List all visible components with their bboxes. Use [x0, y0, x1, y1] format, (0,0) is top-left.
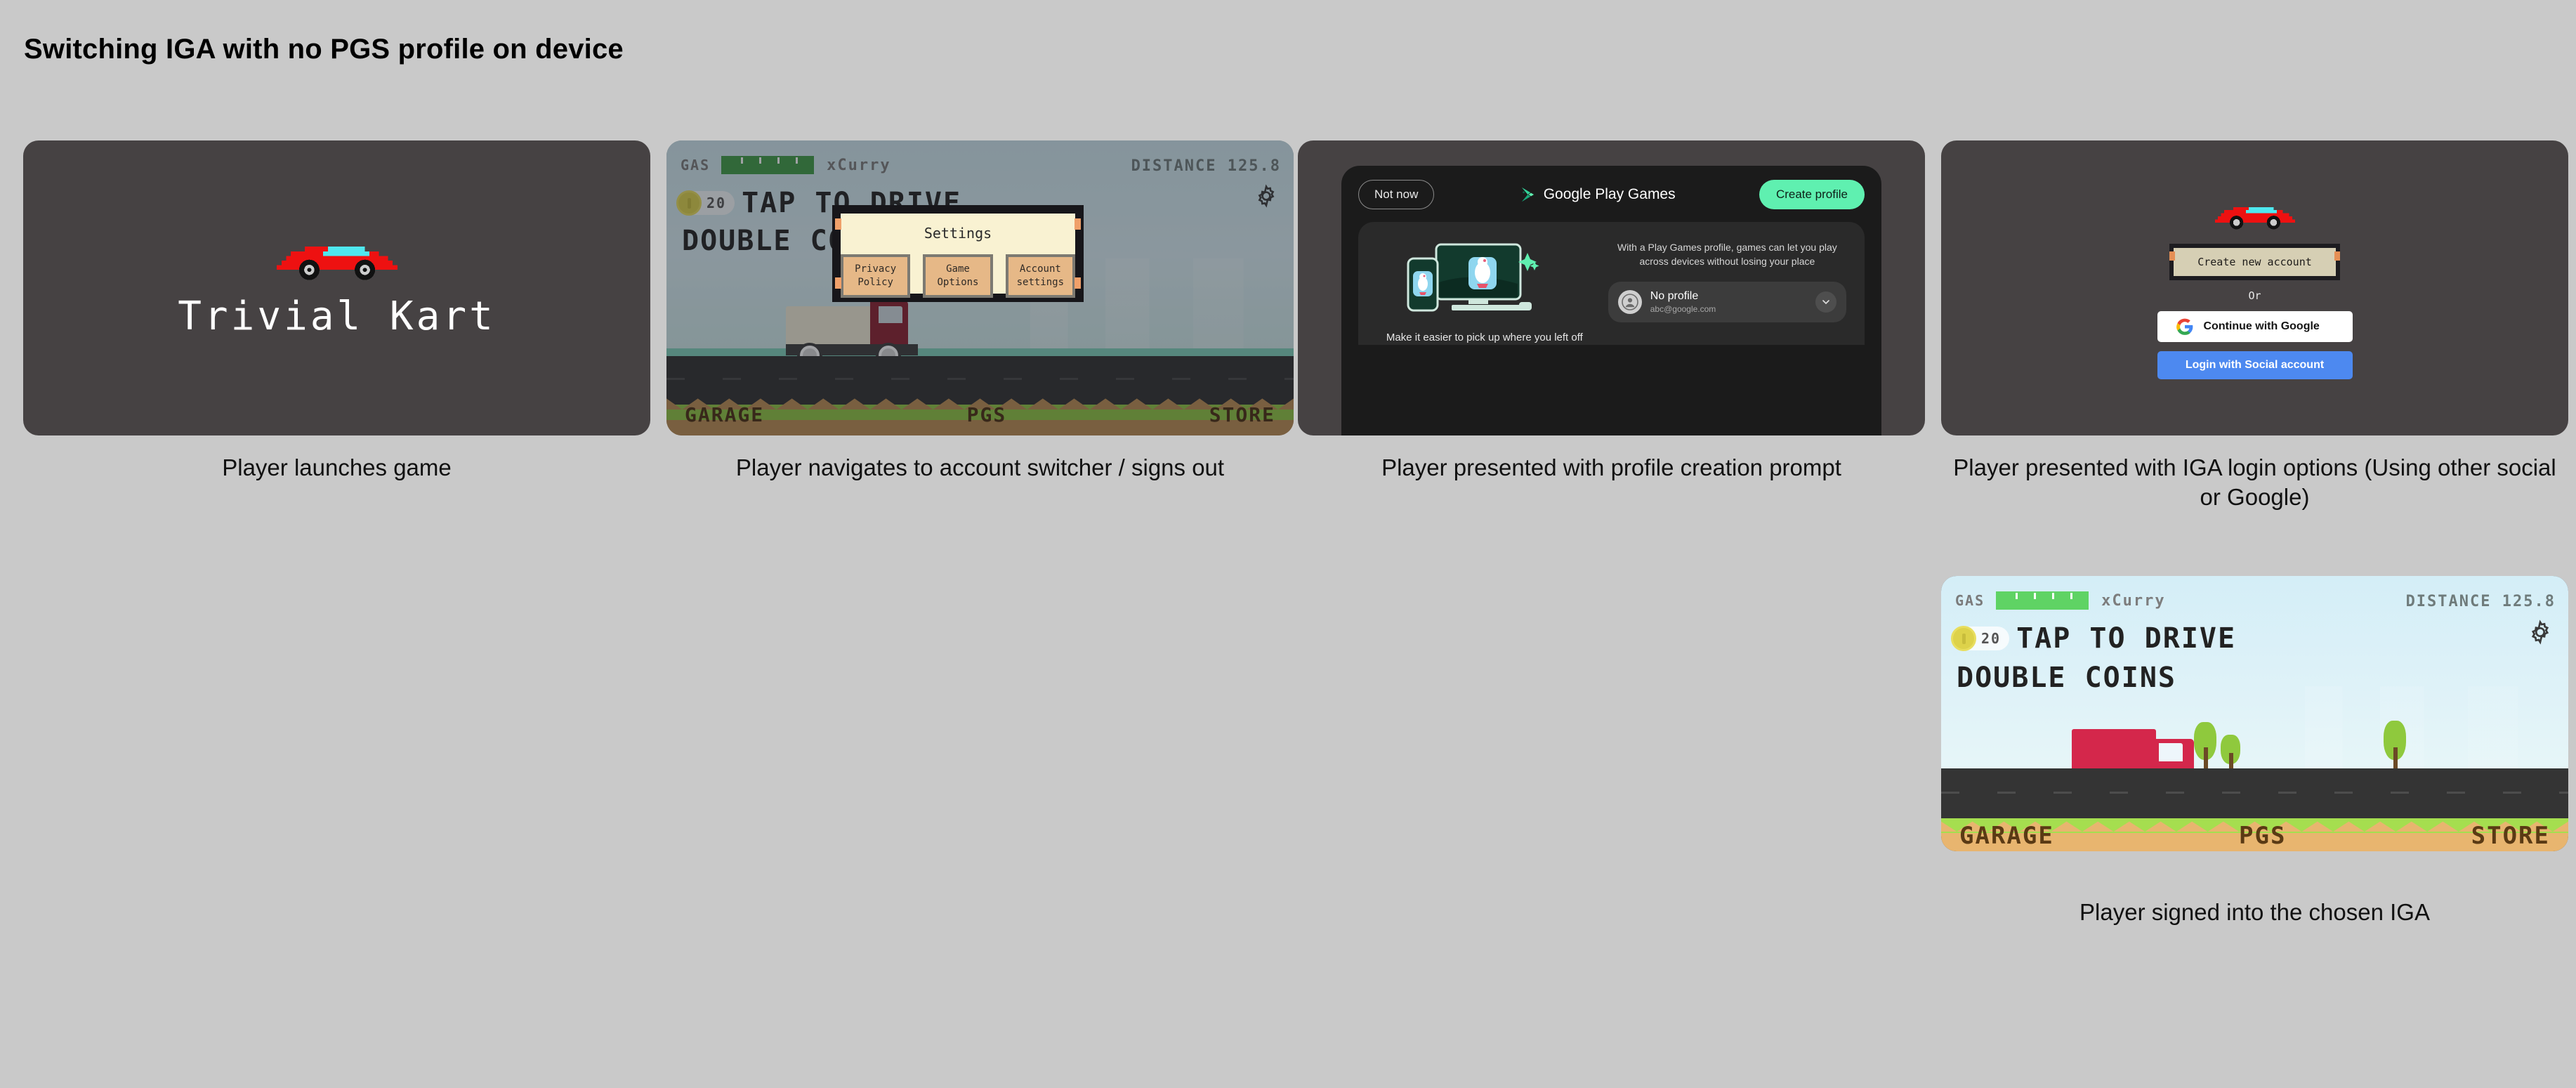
coin-icon: [1951, 626, 1976, 651]
game-title: Trivial Kart: [178, 294, 496, 339]
privacy-policy-label-line1: Privacy: [848, 263, 903, 276]
brand-label: Google Play Games: [1544, 186, 1676, 203]
caption-player-launches-game: Player launches game: [23, 453, 650, 483]
account-email: abc@google.com: [1650, 304, 1716, 314]
panel-player-launches-game: Trivial Kart: [23, 140, 650, 435]
panel-account-switcher: GARAGE PGS STORE GAS xCurry DISTANCE 125…: [666, 140, 1294, 435]
privacy-policy-label-line2: Policy: [848, 276, 903, 289]
caption-iga-login-options: Player presented with IGA login options …: [1941, 453, 2568, 511]
settings-dialog: Settings Privacy Policy Game Options Acc…: [835, 208, 1081, 299]
play-games-logo-icon: [1518, 185, 1537, 204]
page-title: Switching IGA with no PGS profile on dev…: [24, 34, 624, 65]
login-with-social-button[interactable]: Login with Social account: [2157, 351, 2353, 379]
nav-pgs[interactable]: PGS: [2239, 822, 2286, 850]
caption-account-switcher: Player navigates to account switcher / s…: [666, 453, 1294, 483]
account-selector[interactable]: No profile abc@google.com: [1608, 282, 1846, 322]
tap-to-drive-line1: TAP TO DRIVE: [2016, 622, 2236, 655]
create-new-account-button[interactable]: Create new account: [2169, 244, 2340, 280]
pixel-car-icon: [267, 237, 407, 284]
account-settings-label-line2: settings: [1013, 276, 1068, 289]
not-now-button[interactable]: Not now: [1358, 180, 1434, 209]
distance-readout: DISTANCE 125.8: [2406, 593, 2556, 610]
account-settings-button[interactable]: Account settings: [1006, 254, 1075, 298]
create-profile-button[interactable]: Create profile: [1759, 180, 1865, 209]
continue-with-google-label: Continue with Google: [2204, 320, 2320, 333]
settings-dialog-title: Settings: [841, 225, 1075, 242]
gas-gauge: [1996, 591, 2089, 610]
game-options-label-line2: Options: [930, 276, 985, 289]
bottom-nav: GARAGE PGS STORE: [1941, 822, 2568, 850]
tree-sprite: [2384, 721, 2407, 771]
panel-profile-creation-prompt: Not now Google Play Games Create profile: [1298, 140, 1925, 435]
game-options-label-line1: Game: [930, 263, 985, 276]
diagram-canvas: Switching IGA with no PGS profile on dev…: [0, 0, 2576, 1088]
privacy-policy-button[interactable]: Privacy Policy: [841, 254, 910, 298]
panel-iga-login-options: Create new account Or Continue with Goog…: [1941, 140, 2568, 435]
pgs-content-card: Make it easier to pick up where you left…: [1358, 222, 1865, 345]
or-divider-label: Or: [2248, 289, 2261, 302]
pixel-car-icon: [2209, 201, 2301, 232]
player-name: xCurry: [2101, 592, 2165, 610]
panel-signed-into-iga: GARAGE PGS STORE GAS xCurry DISTANCE 125…: [1941, 576, 2568, 851]
account-settings-label-line1: Account: [1013, 263, 1068, 276]
account-name: No profile: [1650, 290, 1716, 303]
profile-benefit-text: With a Play Games profile, games can let…: [1608, 240, 1846, 269]
account-avatar-icon: [1618, 290, 1642, 314]
illustration-caption: Make it easier to pick up where you left…: [1386, 330, 1583, 345]
game-options-button[interactable]: Game Options: [923, 254, 992, 298]
cross-device-illustration: [1390, 240, 1579, 323]
caption-profile-creation: Player presented with profile creation p…: [1298, 453, 1925, 483]
continue-with-google-button[interactable]: Continue with Google: [2157, 311, 2353, 342]
google-g-icon: [2176, 317, 2194, 336]
caption-signed-into-iga: Player signed into the chosen IGA: [1941, 898, 2568, 927]
tap-to-drive-line2: DOUBLE COINS: [1957, 662, 2176, 694]
chevron-down-icon[interactable]: [1815, 291, 1836, 313]
coin-amount: 20: [1981, 630, 2001, 647]
nav-garage[interactable]: GARAGE: [1959, 822, 2054, 850]
tree-sprite: [2221, 735, 2242, 771]
pgs-bottom-sheet: Not now Google Play Games Create profile: [1341, 166, 1881, 435]
nav-store[interactable]: STORE: [2471, 822, 2550, 850]
gas-label: GAS: [1955, 592, 1985, 609]
road: [1941, 768, 2568, 818]
gear-icon[interactable]: [2528, 620, 2553, 645]
google-play-games-brand: Google Play Games: [1518, 185, 1676, 204]
coin-counter: 20: [1952, 627, 2009, 650]
